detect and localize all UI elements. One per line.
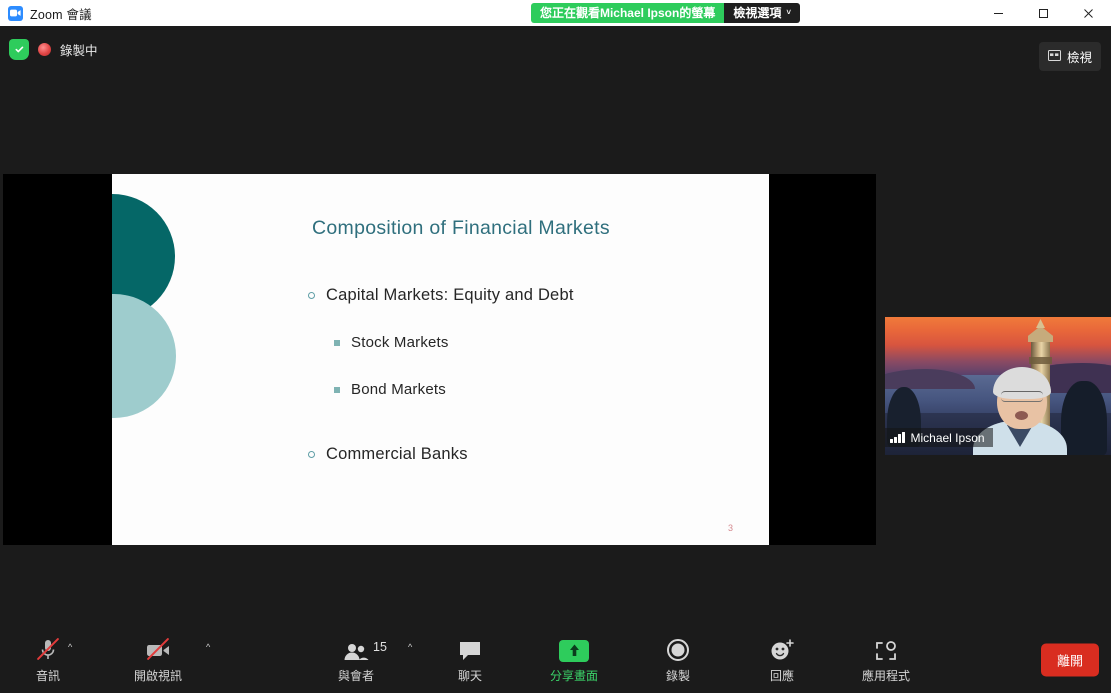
signal-bars-icon <box>890 432 905 443</box>
toolbar-chat-button[interactable]: 聊天 <box>444 636 496 684</box>
toolbar-audio-label: 音訊 <box>36 667 60 684</box>
microphone-muted-icon <box>39 636 57 662</box>
toolbar-video-button[interactable]: 開啟視訊 ^ <box>132 636 184 684</box>
screen-share-banner: 您正在觀看Michael Ipson的螢幕 檢視選項 ˅ <box>531 3 800 23</box>
slide-bullet-1: Stock Markets <box>334 334 449 351</box>
toolbar-share-screen-label: 分享畫面 <box>550 667 598 684</box>
slide-decoration-circle-light <box>112 294 176 418</box>
toolbar-share-screen-button[interactable]: 分享畫面 <box>548 636 600 684</box>
toolbar-chat-label: 聊天 <box>458 667 482 684</box>
toolbar-record-label: 錄製 <box>666 667 690 684</box>
shared-screen-viewport[interactable]: Composition of Financial Markets Capital… <box>3 174 876 545</box>
bullet-square-icon <box>334 340 340 346</box>
participant-mouth <box>1015 411 1028 420</box>
audio-options-caret[interactable]: ^ <box>68 642 72 652</box>
bullet-ring-icon <box>308 451 315 458</box>
share-banner-text: 您正在觀看Michael Ipson的螢幕 <box>531 3 724 23</box>
view-options-label: 檢視選項 <box>733 3 781 23</box>
meeting-area: 錄製中 檢視 Composition of Financial Markets … <box>0 26 1111 693</box>
grid-view-icon <box>1048 48 1061 66</box>
toolbar-reactions-label: 回應 <box>770 667 794 684</box>
video-options-caret[interactable]: ^ <box>206 642 210 652</box>
leave-meeting-button[interactable]: 離開 <box>1041 643 1099 676</box>
slide-bullet-0: Capital Markets: Equity and Debt <box>308 286 574 305</box>
slide-title: Composition of Financial Markets <box>312 217 610 240</box>
recording-label: 錄製中 <box>60 40 98 59</box>
toolbar-apps-button[interactable]: 應用程式 <box>860 636 912 684</box>
toolbar-apps-label: 應用程式 <box>862 667 910 684</box>
title-bar-left: Zoom 會議 <box>0 4 400 23</box>
view-options-button[interactable]: 檢視選項 ˅ <box>724 3 800 23</box>
meeting-toolbar: 音訊 ^ 開啟視訊 ^ 15 <box>0 626 1111 693</box>
slide-bullet-text: Capital Markets: Equity and Debt <box>326 286 574 305</box>
window-title-bar: Zoom 會議 您正在觀看Michael Ipson的螢幕 檢視選項 ˅ <box>0 0 1111 26</box>
chat-bubble-icon <box>458 636 482 662</box>
participant-glasses <box>1001 391 1043 402</box>
toolbar-participants-button[interactable]: 15 與會者 ^ <box>330 636 382 684</box>
title-bar-center: 您正在觀看Michael Ipson的螢幕 檢視選項 ˅ <box>400 0 931 26</box>
toolbar-participants-label: 與會者 <box>338 667 374 684</box>
app-title: Zoom 會議 <box>30 4 92 23</box>
participants-count: 15 <box>373 640 387 654</box>
participant-video-thumbnail[interactable]: Michael Ipson <box>885 317 1111 455</box>
participant-name: Michael Ipson <box>911 431 985 445</box>
participants-options-caret[interactable]: ^ <box>408 642 412 652</box>
toolbar-reactions-button[interactable]: 回應 <box>756 636 808 684</box>
chevron-down-icon: ˅ <box>786 3 791 23</box>
recording-indicator[interactable]: 錄製中 <box>0 39 98 60</box>
presentation-slide: Composition of Financial Markets Capital… <box>112 174 769 545</box>
slide-page-number: 3 <box>728 523 733 533</box>
bullet-ring-icon <box>308 292 315 299</box>
view-button[interactable]: 檢視 <box>1039 42 1101 71</box>
campanile-tower-band <box>1029 357 1052 364</box>
zoom-camera-icon <box>8 6 23 21</box>
status-strip: 錄製中 檢視 <box>0 34 1111 64</box>
slide-bullet-text: Bond Markets <box>351 381 446 398</box>
reactions-smiley-icon <box>769 636 795 662</box>
toolbar-audio-button[interactable]: 音訊 ^ <box>22 636 74 684</box>
slide-bullet-text: Commercial Banks <box>326 445 468 464</box>
toolbar-video-label: 開啟視訊 <box>134 667 182 684</box>
slide-bullet-2: Bond Markets <box>334 381 446 398</box>
recording-dot-icon <box>38 43 51 56</box>
camera-off-icon <box>145 636 171 662</box>
window-controls <box>931 0 1111 26</box>
maximize-icon[interactable] <box>1021 0 1066 26</box>
minimize-icon[interactable] <box>976 0 1021 26</box>
share-screen-icon <box>559 636 589 662</box>
shield-check-icon[interactable] <box>9 39 29 60</box>
bullet-square-icon <box>334 387 340 393</box>
participants-icon: 15 <box>343 636 369 662</box>
close-icon[interactable] <box>1066 0 1111 26</box>
participant-name-tag: Michael Ipson <box>885 428 993 447</box>
toolbar-record-button[interactable]: 錄製 <box>652 636 704 684</box>
slide-bullet-3: Commercial Banks <box>308 445 468 464</box>
apps-bracket-icon <box>873 636 899 662</box>
slide-bullet-text: Stock Markets <box>351 334 449 351</box>
view-button-label: 檢視 <box>1067 47 1092 66</box>
record-circle-icon <box>666 636 690 662</box>
share-screen-badge <box>559 640 589 662</box>
